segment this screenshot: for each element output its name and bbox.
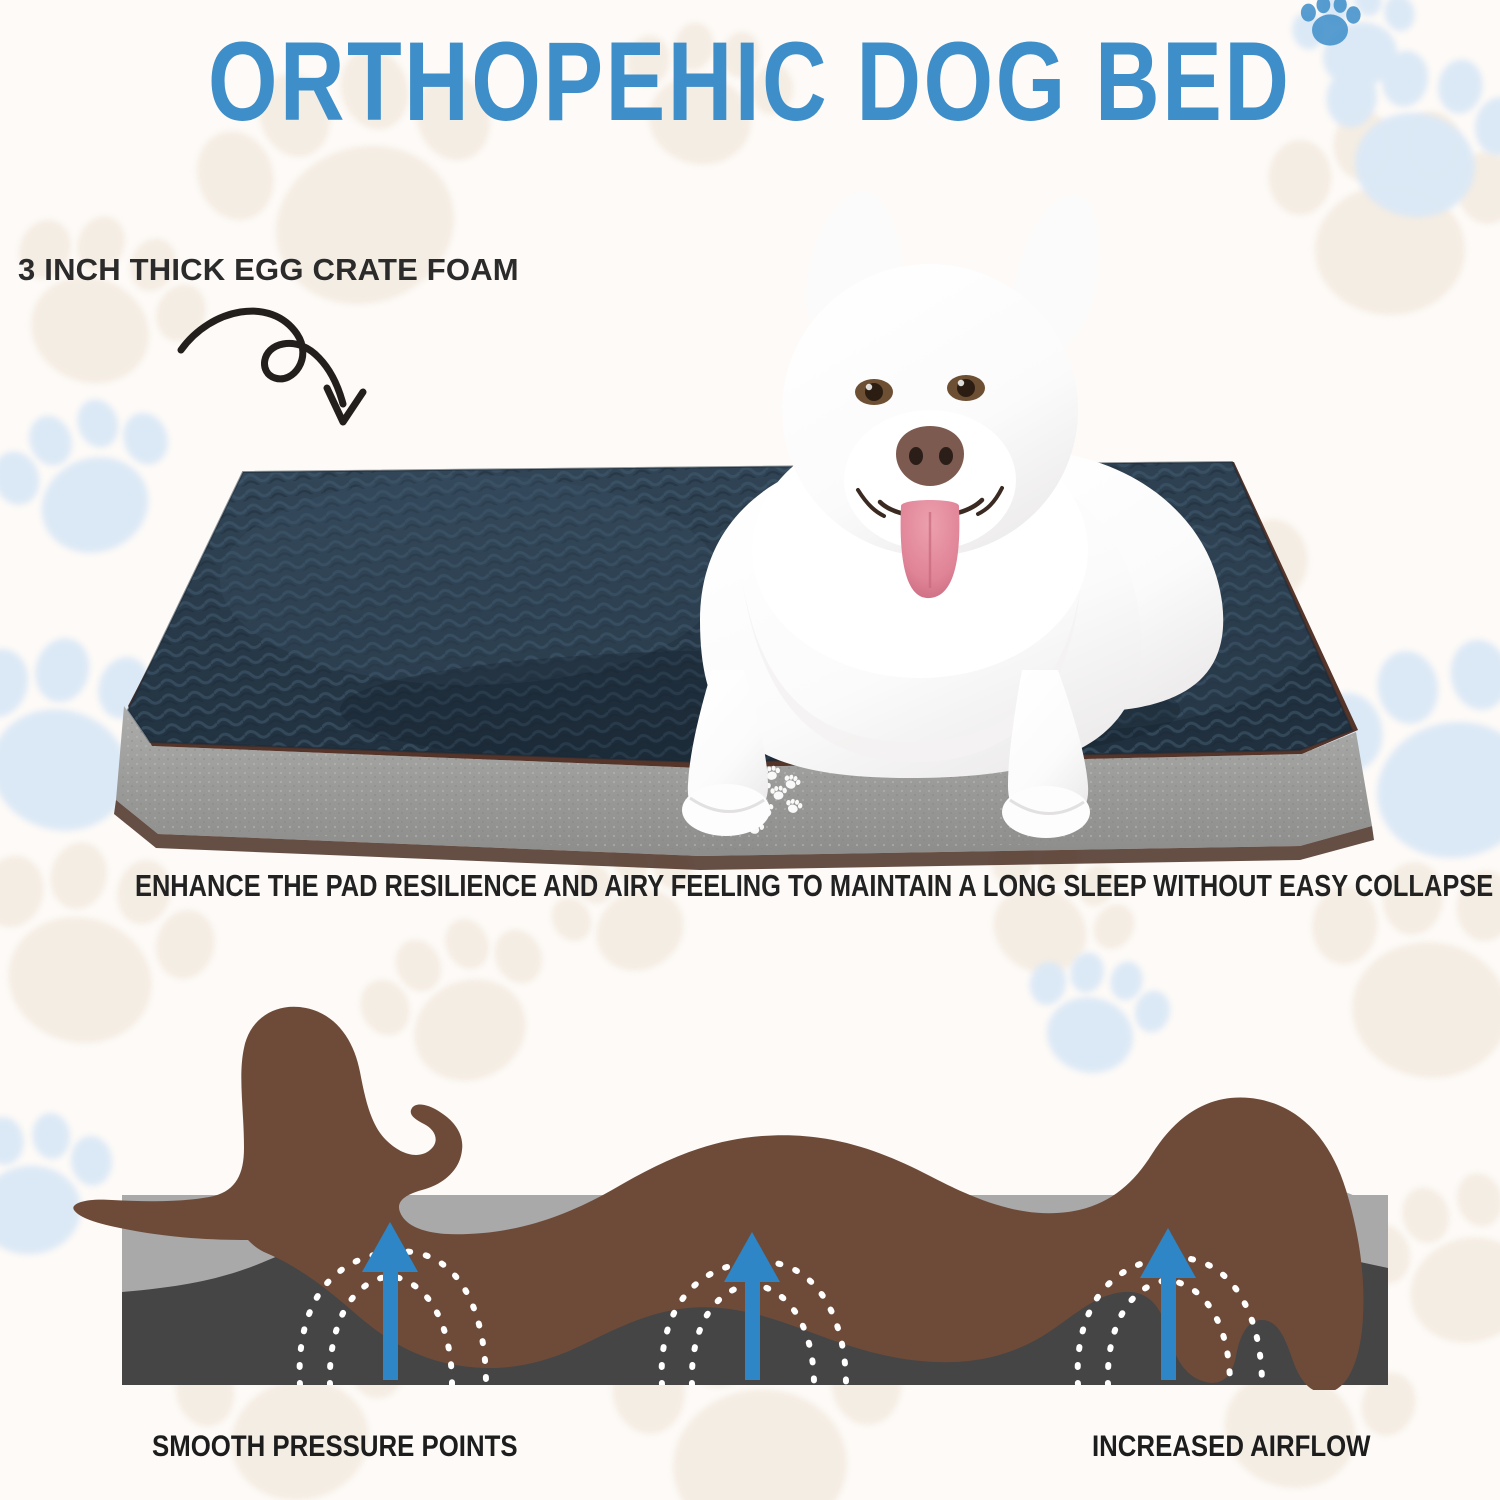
page-title-text: ORTHOPEHIC DOG BED — [208, 20, 1291, 138]
foam-callout-label: 3 INCH THICK EGG CRATE FOAM — [18, 252, 519, 288]
mid-caption: ENHANCE THE PAD RESILIENCE AND AIRY FEEL… — [135, 868, 1365, 904]
label-smooth-pressure-points: SMOOTH PRESSURE POINTS — [152, 1430, 518, 1464]
label-increased-airflow: INCREASED AIRFLOW — [1092, 1430, 1371, 1464]
curly-down-arrow-icon — [175, 292, 395, 442]
diagram-labels: SMOOTH PRESSURE POINTS INCREASED AIRFLOW — [0, 1430, 1500, 1474]
page-title: ORTHOPEHIC DOG BED — [0, 18, 1500, 138]
foam-cross-section-diagram — [0, 990, 1500, 1390]
infographic-canvas: ORTHOPEHIC DOG BED 3 INCH THICK EGG CRAT… — [0, 0, 1500, 1500]
